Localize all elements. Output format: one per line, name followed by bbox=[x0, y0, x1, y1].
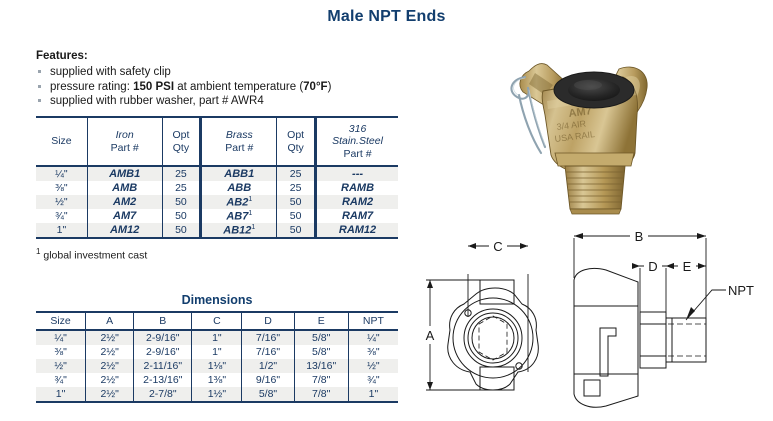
header-ss-part: Part # bbox=[344, 148, 372, 160]
feature-text: supplied with rubber washer, part # AWR4 bbox=[50, 95, 264, 107]
cell-a: 2½" bbox=[86, 359, 134, 373]
feature-text: pressure rating: bbox=[50, 81, 133, 93]
cell-size: ¼" bbox=[36, 166, 87, 181]
cell-a: 2½" bbox=[86, 373, 134, 387]
cell-e: 5/8" bbox=[294, 330, 348, 345]
cell-ss-part: RAMB bbox=[316, 181, 398, 195]
footnote-marker: 1 bbox=[248, 210, 252, 217]
dimension-label-a: A bbox=[426, 328, 435, 343]
cell-size: 1" bbox=[36, 387, 86, 402]
cell-qty-brass: 50 bbox=[277, 223, 316, 238]
cell-qty-iron: 50 bbox=[162, 223, 201, 238]
cell-ss-part: RAM7 bbox=[316, 209, 398, 223]
cell-e: 5/8" bbox=[294, 345, 348, 359]
parts-table-body: ¼" AMB1 25 ABB1 25 --- ⅜" AMB 25 ABB 25 … bbox=[36, 166, 398, 238]
features-block: Features: supplied with safety clip pres… bbox=[36, 50, 416, 109]
features-list: supplied with safety clip pressure ratin… bbox=[36, 65, 416, 109]
cell-qty-brass: 25 bbox=[277, 181, 316, 195]
cell-npt: ¾" bbox=[348, 373, 398, 387]
dimensions-table-body: ¼" 2½" 2-9/16" 1" 7/16" 5/8" ¼" ⅜" 2½" 2… bbox=[36, 330, 398, 402]
cell-brass-part: AB121 bbox=[201, 223, 277, 238]
cell-iron-part: AM7 bbox=[87, 209, 162, 223]
parts-table: Size Iron Part # Opt Qty Brass Part # Op… bbox=[36, 116, 398, 239]
parts-table-header-row: Size Iron Part # Opt Qty Brass Part # Op… bbox=[36, 117, 398, 166]
header-opt-2: Opt bbox=[279, 129, 312, 142]
cell-d: 7/16" bbox=[242, 330, 294, 345]
feature-item: supplied with safety clip bbox=[36, 65, 416, 80]
page-title: Male NPT Ends bbox=[0, 8, 773, 26]
cell-iron-part: AMB1 bbox=[87, 166, 162, 181]
feature-item: supplied with rubber washer, part # AWR4 bbox=[36, 94, 416, 109]
datasheet-page: Male NPT Ends Features: supplied with sa… bbox=[0, 0, 773, 421]
features-heading: Features: bbox=[36, 50, 416, 62]
cell-size: ½" bbox=[36, 195, 87, 209]
cell-b: 2-7/8" bbox=[134, 387, 192, 402]
cell-b: 2-9/16" bbox=[134, 345, 192, 359]
header-brass: Brass Part # bbox=[201, 117, 277, 166]
dimensions-header-row: Size A B C D E NPT bbox=[36, 312, 398, 330]
dimension-label-e: E bbox=[683, 259, 692, 274]
dimension-label-npt: NPT bbox=[728, 283, 754, 298]
cell-size: ⅜" bbox=[36, 181, 87, 195]
cell-size: ¾" bbox=[36, 209, 87, 223]
cell-iron-part: AM12 bbox=[87, 223, 162, 238]
cell-qty-iron: 50 bbox=[162, 209, 201, 223]
cell-brass-part: AB71 bbox=[201, 209, 277, 223]
bullet-icon bbox=[38, 85, 41, 88]
bullet-icon bbox=[38, 70, 41, 73]
header-opt-qty-brass: Opt Qty bbox=[277, 117, 316, 166]
header-qty-1: Qty bbox=[173, 142, 189, 154]
table-row: ¼" 2½" 2-9/16" 1" 7/16" 5/8" ¼" bbox=[36, 330, 398, 345]
header-opt-1: Opt bbox=[165, 129, 198, 142]
header-iron-part: Part # bbox=[111, 142, 139, 154]
feature-text-post: ) bbox=[328, 81, 332, 93]
table-row: 1" AM12 50 AB121 50 RAM12 bbox=[36, 223, 398, 238]
cell-d: 7/16" bbox=[242, 345, 294, 359]
technical-drawing-front-view: C A bbox=[418, 232, 568, 420]
cell-npt: ½" bbox=[348, 359, 398, 373]
cell-npt: 1" bbox=[348, 387, 398, 402]
dimensions-title: Dimensions bbox=[36, 293, 398, 307]
header-iron-material: Iron bbox=[90, 129, 160, 142]
cell-e: 7/8" bbox=[294, 373, 348, 387]
header-c: C bbox=[192, 312, 242, 330]
header-npt: NPT bbox=[348, 312, 398, 330]
feature-emphasis: 150 PSI bbox=[133, 81, 174, 93]
cell-b: 2-9/16" bbox=[134, 330, 192, 345]
cell-size: ¾" bbox=[36, 373, 86, 387]
cell-ss-part: RAM12 bbox=[316, 223, 398, 238]
cell-iron-part: AMB bbox=[87, 181, 162, 195]
header-opt-qty-iron: Opt Qty bbox=[162, 117, 201, 166]
cell-size: ⅜" bbox=[36, 345, 86, 359]
feature-emphasis-2: 70°F bbox=[303, 81, 327, 93]
cell-c: 1⅜" bbox=[192, 373, 242, 387]
dimensions-table: Size A B C D E NPT ¼" 2½" 2-9/16" 1" 7/1… bbox=[36, 311, 398, 403]
header-brass-material: Brass bbox=[204, 129, 274, 142]
cell-qty-brass: 50 bbox=[277, 195, 316, 209]
cell-a: 2½" bbox=[86, 387, 134, 402]
cell-npt: ⅜" bbox=[348, 345, 398, 359]
cell-c: 1" bbox=[192, 345, 242, 359]
dimension-label-d: D bbox=[648, 259, 657, 274]
header-size: Size bbox=[36, 312, 86, 330]
header-d: D bbox=[242, 312, 294, 330]
header-stainless: 316 Stain.Steel Part # bbox=[316, 117, 398, 166]
cell-size: ½" bbox=[36, 359, 86, 373]
cell-a: 2½" bbox=[86, 345, 134, 359]
cell-qty-brass: 25 bbox=[277, 166, 316, 181]
cell-brass-part: ABB1 bbox=[201, 166, 277, 181]
technical-drawing-side-view: B D E NPT bbox=[560, 228, 770, 420]
cell-brass-part-text: AB12 bbox=[223, 224, 251, 236]
header-ss-material: Stain.Steel bbox=[319, 135, 396, 148]
cell-c: 1⅛" bbox=[192, 359, 242, 373]
cell-brass-part-text: AB7 bbox=[226, 210, 248, 222]
dimension-label-b: B bbox=[635, 229, 644, 244]
cell-brass-part: ABB bbox=[201, 181, 277, 195]
cell-b: 2-13/16" bbox=[134, 373, 192, 387]
cell-d: 5/8" bbox=[242, 387, 294, 402]
footnote-marker: 1 bbox=[248, 196, 252, 203]
cell-e: 13/16" bbox=[294, 359, 348, 373]
cell-ss-part: RAM2 bbox=[316, 195, 398, 209]
table-row: ⅜" AMB 25 ABB 25 RAMB bbox=[36, 181, 398, 195]
feature-text: supplied with safety clip bbox=[50, 66, 171, 78]
header-brass-part: Part # bbox=[225, 142, 253, 154]
cell-e: 7/8" bbox=[294, 387, 348, 402]
table-row: ¾" AM7 50 AB71 50 RAM7 bbox=[36, 209, 398, 223]
cell-qty-iron: 25 bbox=[162, 181, 201, 195]
cell-b: 2-11/16" bbox=[134, 359, 192, 373]
feature-item: pressure rating: 150 PSI at ambient temp… bbox=[36, 80, 416, 95]
footnote: 1 global investment cast bbox=[36, 247, 147, 262]
header-e: E bbox=[294, 312, 348, 330]
product-photo: AM7 3/4 AIR USA RAIL bbox=[495, 35, 705, 225]
header-a: A bbox=[86, 312, 134, 330]
cell-d: 9/16" bbox=[242, 373, 294, 387]
footnote-text: global investment cast bbox=[40, 250, 147, 262]
table-row: ½" AM2 50 AB21 50 RAM2 bbox=[36, 195, 398, 209]
cell-size: ¼" bbox=[36, 330, 86, 345]
cell-brass-part: AB21 bbox=[201, 195, 277, 209]
table-row: 1" 2½" 2-7/8" 1½" 5/8" 7/8" 1" bbox=[36, 387, 398, 402]
header-qty-2: Qty bbox=[287, 142, 303, 154]
feature-text-mid: at ambient temperature ( bbox=[174, 81, 303, 93]
cell-a: 2½" bbox=[86, 330, 134, 345]
cell-qty-iron: 50 bbox=[162, 195, 201, 209]
cell-npt: ¼" bbox=[348, 330, 398, 345]
table-row: ½" 2½" 2-11/16" 1⅛" 1/2" 13/16" ½" bbox=[36, 359, 398, 373]
cell-ss-part: --- bbox=[316, 166, 398, 181]
header-b: B bbox=[134, 312, 192, 330]
header-iron: Iron Part # bbox=[87, 117, 162, 166]
table-row: ⅜" 2½" 2-9/16" 1" 7/16" 5/8" ⅜" bbox=[36, 345, 398, 359]
cell-iron-part: AM2 bbox=[87, 195, 162, 209]
footnote-marker: 1 bbox=[251, 224, 255, 231]
cell-d: 1/2" bbox=[242, 359, 294, 373]
cell-c: 1" bbox=[192, 330, 242, 345]
bullet-icon bbox=[38, 99, 41, 102]
table-row: ¾" 2½" 2-13/16" 1⅜" 9/16" 7/8" ¾" bbox=[36, 373, 398, 387]
header-ss-grade: 316 bbox=[319, 123, 396, 136]
cell-qty-iron: 25 bbox=[162, 166, 201, 181]
cell-brass-part-text: AB2 bbox=[226, 196, 248, 208]
cell-qty-brass: 50 bbox=[277, 209, 316, 223]
dimension-label-c: C bbox=[493, 239, 502, 254]
header-size: Size bbox=[36, 117, 87, 166]
cell-size: 1" bbox=[36, 223, 87, 238]
table-row: ¼" AMB1 25 ABB1 25 --- bbox=[36, 166, 398, 181]
cell-c: 1½" bbox=[192, 387, 242, 402]
